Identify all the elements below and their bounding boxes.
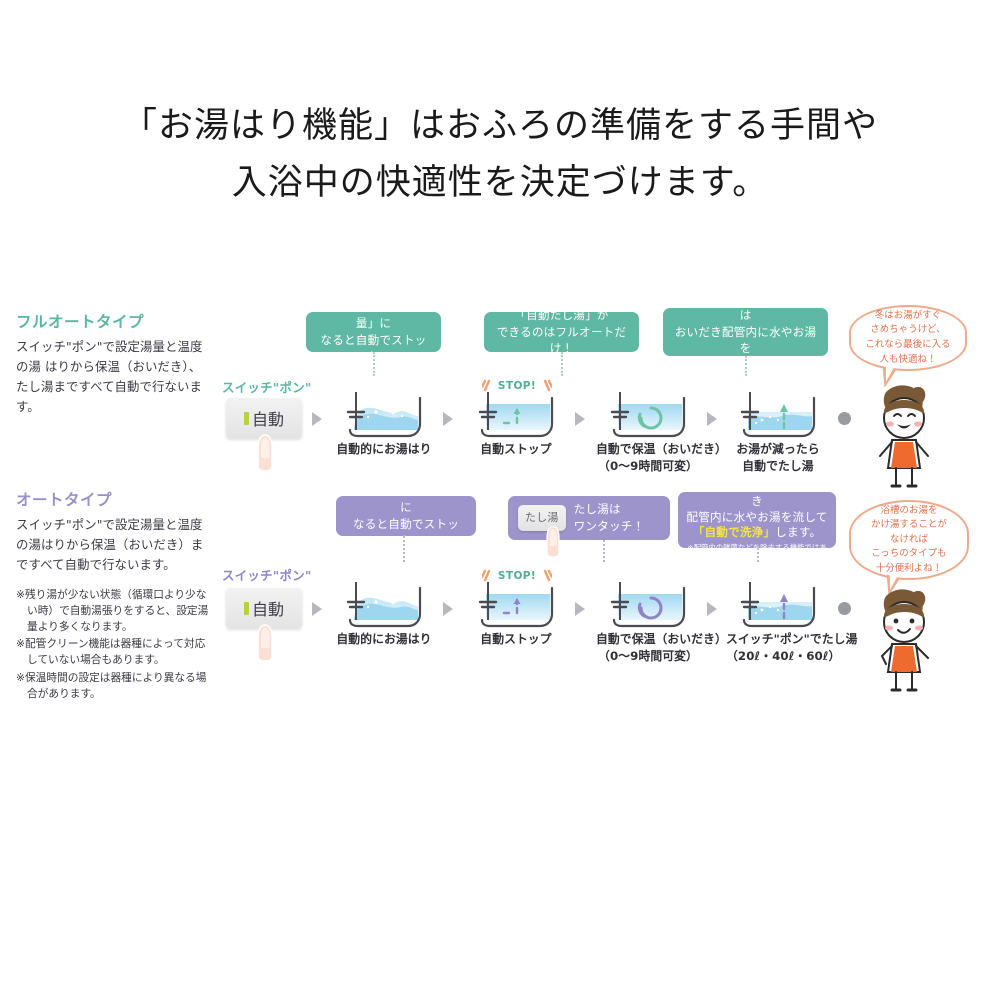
- step-full-auto-2: STOP! 自動ストップ: [464, 386, 568, 458]
- footnote-item: ※配管クリーン機能は器種によって対応していない場合もあります。: [16, 636, 212, 668]
- flow-arrow: [443, 412, 453, 426]
- auto-body: スイッチ"ポン"で設定湯量と温度の湯はりから保温（おいだき）まですべて自動で行な…: [16, 515, 212, 575]
- flow-arrow: [575, 602, 585, 616]
- auto-title: オートタイプ: [16, 488, 212, 510]
- character-avatar-auto: [862, 586, 946, 696]
- spark-right-icon: [538, 569, 552, 583]
- step-full-auto-4: お湯が減ったら 自動でたし湯: [726, 386, 830, 475]
- tub-reheat-icon: [596, 386, 700, 438]
- led-indicator-icon: [244, 602, 249, 615]
- flow-arrow: [312, 412, 322, 426]
- step-caption-main: お湯が減ったら: [736, 442, 819, 456]
- step-auto-2: STOP! 自動ストップ: [464, 576, 568, 648]
- spark-left-icon: [482, 379, 496, 393]
- step-full-auto-1: 自動的にお湯はり: [332, 386, 436, 458]
- step-caption: 自動ストップ: [464, 631, 568, 648]
- callout-auto-1: 設定「温度」と「湯量」になると自動でストップ！: [336, 496, 476, 536]
- step-caption: スイッチ"ポン"でたし湯 （20ℓ・40ℓ・60ℓ）: [726, 631, 830, 665]
- auto-button-label: 自動: [252, 596, 284, 620]
- section-full-auto-description: フルオートタイプ スイッチ"ポン"で設定湯量と温度の湯 はりから保温（おいだき）…: [16, 310, 212, 417]
- callout-auto-3: 自動運転終了時にはおいだき配管内に水やお湯を流して「自動で洗浄」します。 ※配管…: [678, 492, 836, 548]
- step-caption: お湯が減ったら 自動でたし湯: [726, 441, 830, 475]
- infographic-canvas: 「お湯はり機能」はおふろの準備をする手間や 入浴中の快適性を決定づけます。 フル…: [0, 0, 1000, 1000]
- flow-arrow: [707, 602, 717, 616]
- step-caption: 自動ストップ: [464, 441, 568, 458]
- callout-text-main: 自動運転終了時にはおいだき配管内に水やお湯を流して: [686, 478, 828, 523]
- step-caption: 自動的にお湯はり: [332, 631, 436, 648]
- callout-text: たし湯はワンタッチ！: [574, 501, 645, 535]
- leader-line: [757, 548, 759, 562]
- led-indicator-icon: [244, 412, 249, 425]
- finger-tap-icon: [252, 622, 278, 662]
- callout-text: 設定「温度」と「湯量」になると自動でストップ！: [343, 482, 469, 549]
- callout-auto-2: たし湯 たし湯はワンタッチ！: [508, 496, 670, 540]
- footnote-item: ※保温時間の設定は器種により異なる場合があります。: [16, 670, 212, 702]
- callout-text: 「自動たし湯」ができるのはフルオートだけ！: [491, 307, 632, 357]
- callout-full-auto-1: 設定「温度」と「湯量」になると自動でストップ！: [306, 312, 441, 352]
- callout-text-after: します。: [775, 525, 821, 539]
- step-caption: 自動で保温（おいだき） （0〜9時間可変）: [596, 631, 700, 665]
- speech-bubble-text: 浴槽のお湯をかけ湯することがなければこっちのタイプも十分便利よね！: [871, 504, 947, 577]
- leader-line: [561, 352, 563, 376]
- step-caption-sub: （0〜9時間可変）: [596, 458, 700, 475]
- flow-arrow: [575, 412, 585, 426]
- step-full-auto-3: 自動で保温（おいだき） （0〜9時間可変）: [596, 386, 700, 475]
- step-auto-4: スイッチ"ポン"でたし湯 （20ℓ・40ℓ・60ℓ）: [726, 576, 830, 665]
- footnote-list: ※残り湯が少ない状態（循環口より少ない時）で自動湯張りをすると、設定湯量より多く…: [16, 587, 212, 701]
- spark-right-icon: [538, 379, 552, 393]
- leader-line: [745, 356, 747, 376]
- full-auto-body: スイッチ"ポン"で設定湯量と温度の湯 はりから保温（おいだき）、たし湯まですべて…: [16, 337, 212, 417]
- speech-bubble-full-auto: 冬はお湯がすぐさめちゃうけど、これなら最後に入る人も快適ね！: [849, 305, 967, 371]
- callout-full-auto-3: 配管クリーン機能排水時にはおいだき配管内に水やお湯を自動で流します。: [663, 308, 828, 356]
- character-avatar-full-auto: [862, 382, 946, 492]
- tub-filling-icon: [332, 576, 436, 628]
- flow-arrow: [443, 602, 453, 616]
- step-auto-1: 自動的にお湯はり: [332, 576, 436, 648]
- spark-left-icon: [482, 569, 496, 583]
- step-auto-3: 自動で保温（おいだき） （0〜9時間可変）: [596, 576, 700, 665]
- page-title: 「お湯はり機能」はおふろの準備をする手間や 入浴中の快適性を決定づけます。: [0, 98, 1000, 211]
- auto-button-label: 自動: [252, 406, 284, 430]
- section-auto-description: オートタイプ スイッチ"ポン"で設定湯量と温度の湯はりから保温（おいだき）まです…: [16, 488, 212, 703]
- leader-line: [603, 540, 605, 562]
- step-caption-main: 自動で保温（おいだき）: [596, 442, 727, 456]
- leader-line: [403, 536, 405, 562]
- footnote-item: ※残り湯が少ない状態（循環口より少ない時）で自動湯張りをすると、設定湯量より多く…: [16, 587, 212, 635]
- finger-tap-icon: [252, 432, 278, 472]
- flow-end-dot: [838, 602, 851, 615]
- step-caption-main: スイッチ"ポン"でたし湯: [726, 632, 857, 646]
- tub-filling-icon: [332, 386, 436, 438]
- tub-stop-icon: STOP!: [464, 576, 568, 628]
- leader-line: [373, 352, 375, 376]
- tub-reheat-icon: [596, 576, 700, 628]
- flow-end-dot: [838, 412, 851, 425]
- headline-line-1: 「お湯はり機能」はおふろの準備をする手間や: [0, 98, 1000, 155]
- switch-label-full-auto: スイッチ"ポン": [222, 378, 312, 396]
- tub-refill-icon: [726, 576, 830, 628]
- step-caption-sub: （20ℓ・40ℓ・60ℓ）: [726, 648, 830, 665]
- step-caption: 自動的にお湯はり: [332, 441, 436, 458]
- step-caption-sub: （0〜9時間可変）: [596, 648, 700, 665]
- headline-line-2: 入浴中の快適性を決定づけます。: [0, 155, 1000, 212]
- step-caption: 自動で保温（おいだき） （0〜9時間可変）: [596, 441, 700, 475]
- tub-refill-icon: [726, 386, 830, 438]
- step-caption-sub: 自動でたし湯: [726, 458, 830, 475]
- step-caption-main: 自動で保温（おいだき）: [596, 632, 727, 646]
- callout-full-auto-2: 「自動たし湯」ができるのはフルオートだけ！: [484, 312, 639, 352]
- speech-bubble-auto: 浴槽のお湯をかけ湯することがなければこっちのタイプも十分便利よね！: [849, 500, 969, 580]
- speech-bubble-text: 冬はお湯がすぐさめちゃうけど、これなら最後に入る人も快適ね！: [865, 309, 950, 367]
- finger-tap-icon: [542, 524, 564, 558]
- tub-stop-icon: STOP!: [464, 386, 568, 438]
- flow-arrow: [312, 602, 322, 616]
- flow-arrow: [707, 412, 717, 426]
- full-auto-title: フルオートタイプ: [16, 310, 212, 332]
- callout-highlight: 「自動で洗浄」: [693, 525, 776, 539]
- switch-label-auto: スイッチ"ポン": [222, 566, 312, 584]
